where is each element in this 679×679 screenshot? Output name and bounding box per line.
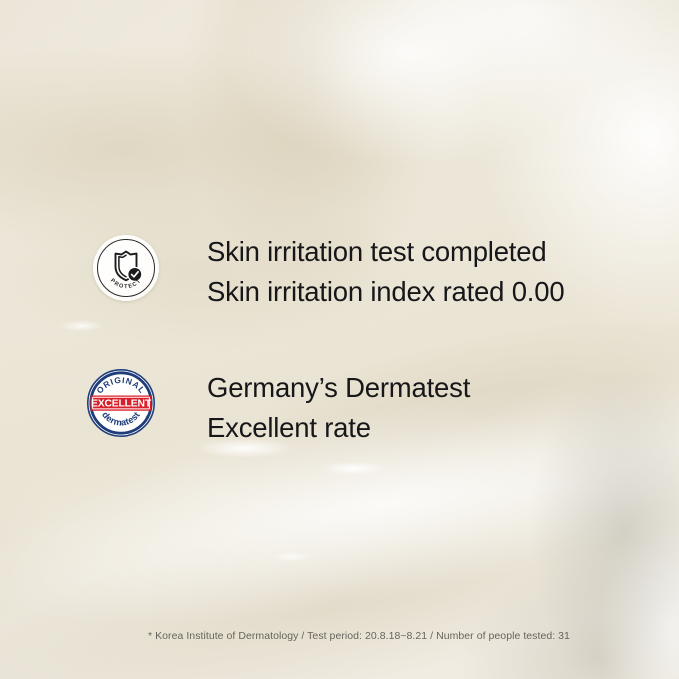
claim-line-2: Skin irritation index rated 0.00 — [207, 272, 564, 312]
shield-check-icon: PROTECT — [93, 235, 159, 301]
claim-line-1: Skin irritation test completed — [207, 232, 564, 272]
dermatest-seal-badge: ORIGINAL dermatest ® EXCELLENT — [86, 368, 156, 438]
dermatest-registered-mark: ® — [146, 416, 149, 420]
claims-content: PROTECT Skin irritation test completed S… — [0, 0, 679, 679]
claim-text-block: Skin irritation test completed Skin irri… — [207, 232, 564, 312]
claim-line-1: Germany’s Dermatest — [207, 368, 470, 408]
badge-slot: PROTECT — [90, 232, 162, 301]
claim-row-dermatest: ORIGINAL dermatest ® EXCELLENT — [86, 368, 470, 448]
claim-line-2: Excellent rate — [207, 408, 470, 448]
protect-seal-badge: PROTECT — [93, 235, 159, 301]
product-claim-image: PROTECT Skin irritation test completed S… — [0, 0, 679, 679]
dermatest-seal-graphic: ORIGINAL dermatest ® EXCELLENT — [86, 368, 156, 438]
badge-slot: ORIGINAL dermatest ® EXCELLENT — [86, 368, 158, 438]
dermatest-banner-text: EXCELLENT — [91, 399, 152, 410]
footnote-disclaimer: * Korea Institute of Dermatology / Test … — [148, 630, 570, 642]
claim-text-block: Germany’s Dermatest Excellent rate — [207, 368, 470, 448]
claim-row-skin-irritation: PROTECT Skin irritation test completed S… — [90, 232, 564, 312]
